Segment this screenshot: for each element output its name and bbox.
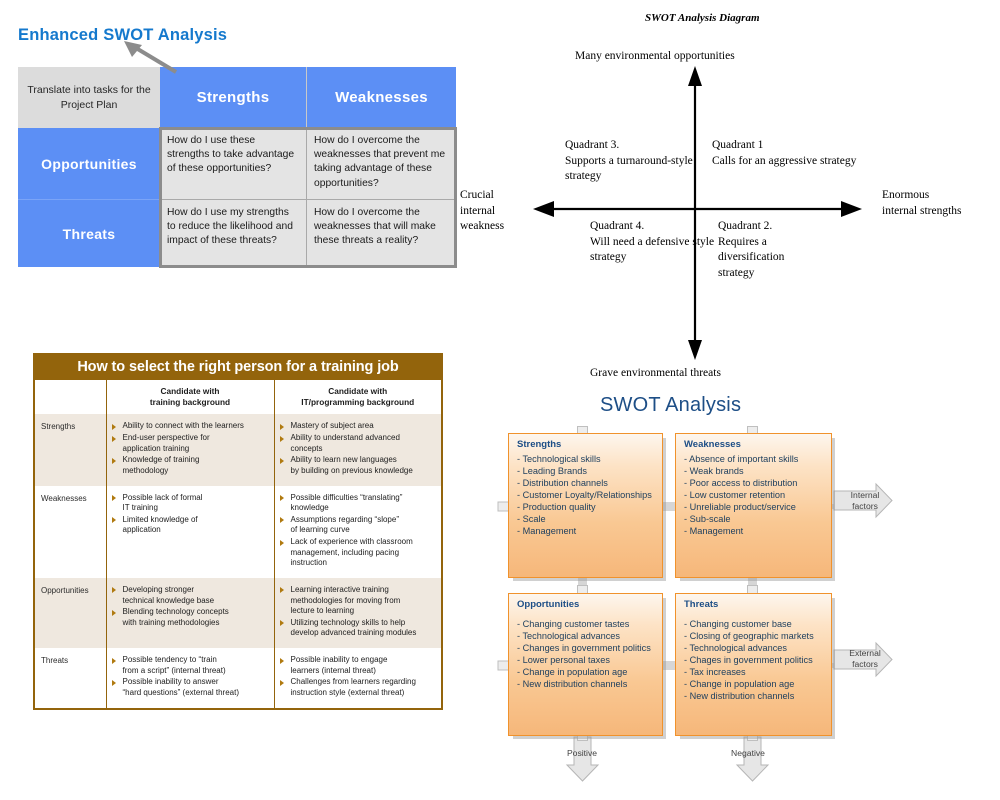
swot-box-item: - Changing customer base bbox=[684, 618, 824, 630]
table-bullet-line: knowledge bbox=[291, 503, 435, 514]
swot-box-strengths-heading: Strengths bbox=[517, 439, 655, 452]
arrow-label-positive: Positive bbox=[552, 748, 612, 759]
swot-box-item: - Chages in government politics bbox=[684, 654, 824, 666]
table-bullet-item: Assumptions regarding “slope”of learning… bbox=[280, 515, 435, 536]
enhanced-swot-panel: Enhanced SWOT Analysis Translate into ta… bbox=[0, 0, 470, 300]
table-column-header-line: Candidate with bbox=[111, 386, 270, 397]
matrix-cell-weaknesses-threats: How do I overcome the weaknesses that wi… bbox=[307, 200, 456, 267]
matrix-corner-note: Translate into tasks for the Project Pla… bbox=[18, 67, 160, 128]
swot-boxes-panel: SWOT Analysis Strengths - Technological … bbox=[490, 390, 1000, 800]
swot-box-item: - Customer Loyalty/Relationships bbox=[517, 489, 655, 501]
swot-box-item: - Distribution channels bbox=[517, 477, 655, 489]
table-column-header-0 bbox=[34, 380, 106, 414]
table-bullet-line: Challenges from learners regarding bbox=[291, 677, 435, 688]
table-bullet-line: concepts bbox=[291, 444, 435, 455]
swot-quadrant-diagram-panel: SWOT Analysis Diagram Many environmental… bbox=[450, 0, 1000, 400]
table-bullet-line: application bbox=[123, 525, 267, 536]
swot-box-item: - Unreliable product/service bbox=[684, 501, 824, 513]
table-bullet-item: Possible difficulties “translating”knowl… bbox=[280, 493, 435, 514]
matrix-header-threats: Threats bbox=[18, 200, 160, 267]
table-cell: Learning interactive trainingmethodologi… bbox=[274, 578, 442, 648]
table-row: StrengthsAbility to connect with the lea… bbox=[34, 414, 442, 485]
swot-box-weaknesses-items: - Absence of important skills- Weak bran… bbox=[684, 453, 824, 538]
table-bullet-item: Ability to understand advancedconcepts bbox=[280, 433, 435, 454]
arrow-label-external-factors: External factors bbox=[842, 648, 888, 669]
table-bullet-item: Developing strongertechnical knowledge b… bbox=[112, 585, 267, 606]
table-bullet-line: management, including pacing bbox=[291, 548, 435, 559]
quadrant-2-text: Quadrant 2. Requires a diversification s… bbox=[718, 219, 818, 282]
quadrant-3-text: Quadrant 3. Supports a turnaround-style … bbox=[565, 138, 700, 185]
table-bullet-line: IT training bbox=[123, 503, 267, 514]
swot-box-item: - Changing customer tastes bbox=[517, 618, 655, 630]
table-bullet-item: Mastery of subject area bbox=[280, 421, 435, 432]
swot-box-item: - Changes in government politics bbox=[517, 642, 655, 654]
table-cell: Developing strongertechnical knowledge b… bbox=[106, 578, 274, 648]
table-bullet-line: develop advanced training modules bbox=[291, 628, 435, 639]
swot-box-item: - Production quality bbox=[517, 501, 655, 513]
table-bullet-item: Knowledge of trainingmethodology bbox=[112, 455, 267, 476]
table-cell: Ability to connect with the learnersEnd-… bbox=[106, 414, 274, 485]
table-bullet-line: Knowledge of training bbox=[123, 455, 267, 466]
table-bullet-item: Learning interactive trainingmethodologi… bbox=[280, 585, 435, 617]
table-banner-title: How to select the right person for a tra… bbox=[33, 353, 443, 380]
table-bullet-line: lecture to learning bbox=[291, 606, 435, 617]
table-bullet-line: Developing stronger bbox=[123, 585, 267, 596]
table-bullet-line: End-user perspective for bbox=[123, 433, 267, 444]
table-cell: Possible lack of formalIT trainingLimite… bbox=[106, 486, 274, 578]
table-bullet-item: Possible tendency to “trainfrom a script… bbox=[112, 655, 267, 676]
table-row: WeaknessesPossible lack of formalIT trai… bbox=[34, 486, 442, 578]
swot-box-item: - Absence of important skills bbox=[684, 453, 824, 465]
table-bullet-line: Assumptions regarding “slope” bbox=[291, 515, 435, 526]
table-bullet-item: Possible inability to answer“hard questi… bbox=[112, 677, 267, 698]
matrix-cell-weaknesses-opportunities: How do I overcome the weaknesses that pr… bbox=[307, 128, 456, 200]
swot-box-threats-heading: Threats bbox=[684, 599, 824, 612]
swot-box-item: - New distribution channels bbox=[684, 690, 824, 702]
matrix-cell-strengths-opportunities: How do I use these strengths to take adv… bbox=[160, 128, 307, 200]
table-bullet-line: methodology bbox=[123, 466, 267, 477]
table-bullet-line: Ability to connect with the learners bbox=[123, 421, 267, 432]
table-column-header-line: IT/programming background bbox=[279, 397, 438, 408]
training-job-table-panel: How to select the right person for a tra… bbox=[33, 353, 443, 691]
table-bullet-line: Blending technology concepts bbox=[123, 607, 267, 618]
swot-box-item: - Management bbox=[517, 525, 655, 537]
swot-box-threats: Threats - Changing customer base- Closin… bbox=[675, 593, 832, 736]
table-bullet-item: Challenges from learners regardinginstru… bbox=[280, 677, 435, 698]
training-job-table: Candidate withtraining backgroundCandida… bbox=[33, 380, 443, 710]
swot-box-item: - Technological advances bbox=[517, 630, 655, 642]
table-bullet-item: Possible lack of formalIT training bbox=[112, 493, 267, 514]
swot-box-threats-items: - Changing customer base- Closing of geo… bbox=[684, 618, 824, 703]
table-row-label: Weaknesses bbox=[34, 486, 106, 578]
table-row: ThreatsPossible tendency to “trainfrom a… bbox=[34, 648, 442, 709]
swot-box-item: - Scale bbox=[517, 513, 655, 525]
table-bullet-line: Mastery of subject area bbox=[291, 421, 435, 432]
table-bullet-line: Ability to learn new languages bbox=[291, 455, 435, 466]
table-bullet-line: Ability to understand advanced bbox=[291, 433, 435, 444]
table-bullet-line: Limited knowledge of bbox=[123, 515, 267, 526]
table-bullet-line: Possible inability to answer bbox=[123, 677, 267, 688]
table-column-header-1: Candidate withtraining background bbox=[106, 380, 274, 414]
table-bullet-line: instruction style (external threat) bbox=[291, 688, 435, 699]
arrow-label-negative: Negative bbox=[718, 748, 778, 759]
table-bullet-item: Utilizing technology skills to helpdevel… bbox=[280, 618, 435, 639]
table-bullet-line: of learning curve bbox=[291, 525, 435, 536]
table-row-label: Threats bbox=[34, 648, 106, 709]
table-bullet-line: application training bbox=[123, 444, 267, 455]
swot-box-item: - New distribution channels bbox=[517, 678, 655, 690]
swot-box-item: - Tax increases bbox=[684, 666, 824, 678]
swot-box-item: - Poor access to distribution bbox=[684, 477, 824, 489]
axis-label-bottom: Grave environmental threats bbox=[590, 367, 721, 379]
swot-box-item: - Change in population age bbox=[517, 666, 655, 678]
swot-box-item: - Closing of geographic markets bbox=[684, 630, 824, 642]
table-cell: Possible inability to engagelearners (in… bbox=[274, 648, 442, 709]
swot-box-item: - Lower personal taxes bbox=[517, 654, 655, 666]
swot-box-item: - Change in population age bbox=[684, 678, 824, 690]
matrix-header-strengths: Strengths bbox=[160, 67, 307, 128]
table-bullet-item: End-user perspective forapplication trai… bbox=[112, 433, 267, 454]
table-bullet-line: by building on previous knowledge bbox=[291, 466, 435, 477]
matrix-header-opportunities: Opportunities bbox=[18, 128, 160, 200]
quadrant-1-text: Quadrant 1 Calls for an aggressive strat… bbox=[712, 138, 857, 169]
table-column-header-2: Candidate withIT/programming background bbox=[274, 380, 442, 414]
table-bullet-item: Blending technology conceptswith trainin… bbox=[112, 607, 267, 628]
table-bullet-line: Possible inability to engage bbox=[291, 655, 435, 666]
table-header-row: Candidate withtraining backgroundCandida… bbox=[34, 380, 442, 414]
swot-box-item: - Technological skills bbox=[517, 453, 655, 465]
swot-matrix: Translate into tasks for the Project Pla… bbox=[18, 67, 456, 267]
table-column-header-line: training background bbox=[111, 397, 270, 408]
table-bullet-line: instruction bbox=[291, 558, 435, 569]
quadrant-4-text: Quadrant 4. Will need a defensive style … bbox=[590, 219, 725, 266]
table-bullet-item: Ability to connect with the learners bbox=[112, 421, 267, 432]
axis-label-left: Crucial internal weakness bbox=[460, 188, 530, 235]
table-bullet-item: Ability to learn new languagesby buildin… bbox=[280, 455, 435, 476]
swot-box-strengths: Strengths - Technological skills- Leadin… bbox=[508, 433, 663, 578]
swot-box-strengths-items: - Technological skills- Leading Brands- … bbox=[517, 453, 655, 538]
table-bullet-line: learners (internal threat) bbox=[291, 666, 435, 677]
table-row-label: Opportunities bbox=[34, 578, 106, 648]
table-column-header-line: Candidate with bbox=[279, 386, 438, 397]
swot-box-weaknesses-heading: Weaknesses bbox=[684, 439, 824, 452]
swot-box-item: - Low customer retention bbox=[684, 489, 824, 501]
diagram-title: SWOT Analysis Diagram bbox=[645, 12, 760, 24]
axis-label-top: Many environmental opportunities bbox=[575, 50, 735, 62]
table-bullet-item: Lack of experience with classroommanagem… bbox=[280, 537, 435, 569]
table-bullet-item: Possible inability to engagelearners (in… bbox=[280, 655, 435, 676]
swot-box-item: - Management bbox=[684, 525, 824, 537]
table-bullet-line: Lack of experience with classroom bbox=[291, 537, 435, 548]
swot-box-weaknesses: Weaknesses - Absence of important skills… bbox=[675, 433, 832, 578]
axis-label-right: Enormous internal strengths bbox=[882, 188, 962, 219]
table-bullet-line: Possible lack of formal bbox=[123, 493, 267, 504]
matrix-cell-strengths-threats: How do I use my strengths to reduce the … bbox=[160, 200, 307, 267]
swot-boxes-title: SWOT Analysis bbox=[600, 394, 741, 417]
table-cell: Possible difficulties “translating”knowl… bbox=[274, 486, 442, 578]
table-bullet-line: from a script” (internal threat) bbox=[123, 666, 267, 677]
table-bullet-line: Utilizing technology skills to help bbox=[291, 618, 435, 629]
table-bullet-line: technical knowledge base bbox=[123, 596, 267, 607]
table-row-label: Strengths bbox=[34, 414, 106, 485]
arrow-label-internal-factors: Internal factors bbox=[842, 490, 888, 511]
swot-box-opportunities: Opportunities - Changing customer tastes… bbox=[508, 593, 663, 736]
table-bullet-line: “hard questions” (external threat) bbox=[123, 688, 267, 699]
table-bullet-line: methodologies for moving from bbox=[291, 596, 435, 607]
table-bullet-line: Possible tendency to “train bbox=[123, 655, 267, 666]
table-bullet-line: with training methodologies bbox=[123, 618, 267, 629]
table-bullet-item: Limited knowledge ofapplication bbox=[112, 515, 267, 536]
swot-box-item: - Sub-scale bbox=[684, 513, 824, 525]
table-bullet-line: Possible difficulties “translating” bbox=[291, 493, 435, 504]
table-cell: Possible tendency to “trainfrom a script… bbox=[106, 648, 274, 709]
matrix-header-weaknesses: Weaknesses bbox=[307, 67, 456, 128]
enhanced-swot-title: Enhanced SWOT Analysis bbox=[18, 26, 227, 45]
swot-box-item: - Weak brands bbox=[684, 465, 824, 477]
table-bullet-line: Learning interactive training bbox=[291, 585, 435, 596]
table-row: OpportunitiesDeveloping strongertechnica… bbox=[34, 578, 442, 648]
swot-box-opportunities-heading: Opportunities bbox=[517, 599, 655, 612]
swot-box-item: - Technological advances bbox=[684, 642, 824, 654]
swot-box-opportunities-items: - Changing customer tastes- Technologica… bbox=[517, 618, 655, 691]
table-cell: Mastery of subject areaAbility to unders… bbox=[274, 414, 442, 485]
swot-box-item: - Leading Brands bbox=[517, 465, 655, 477]
